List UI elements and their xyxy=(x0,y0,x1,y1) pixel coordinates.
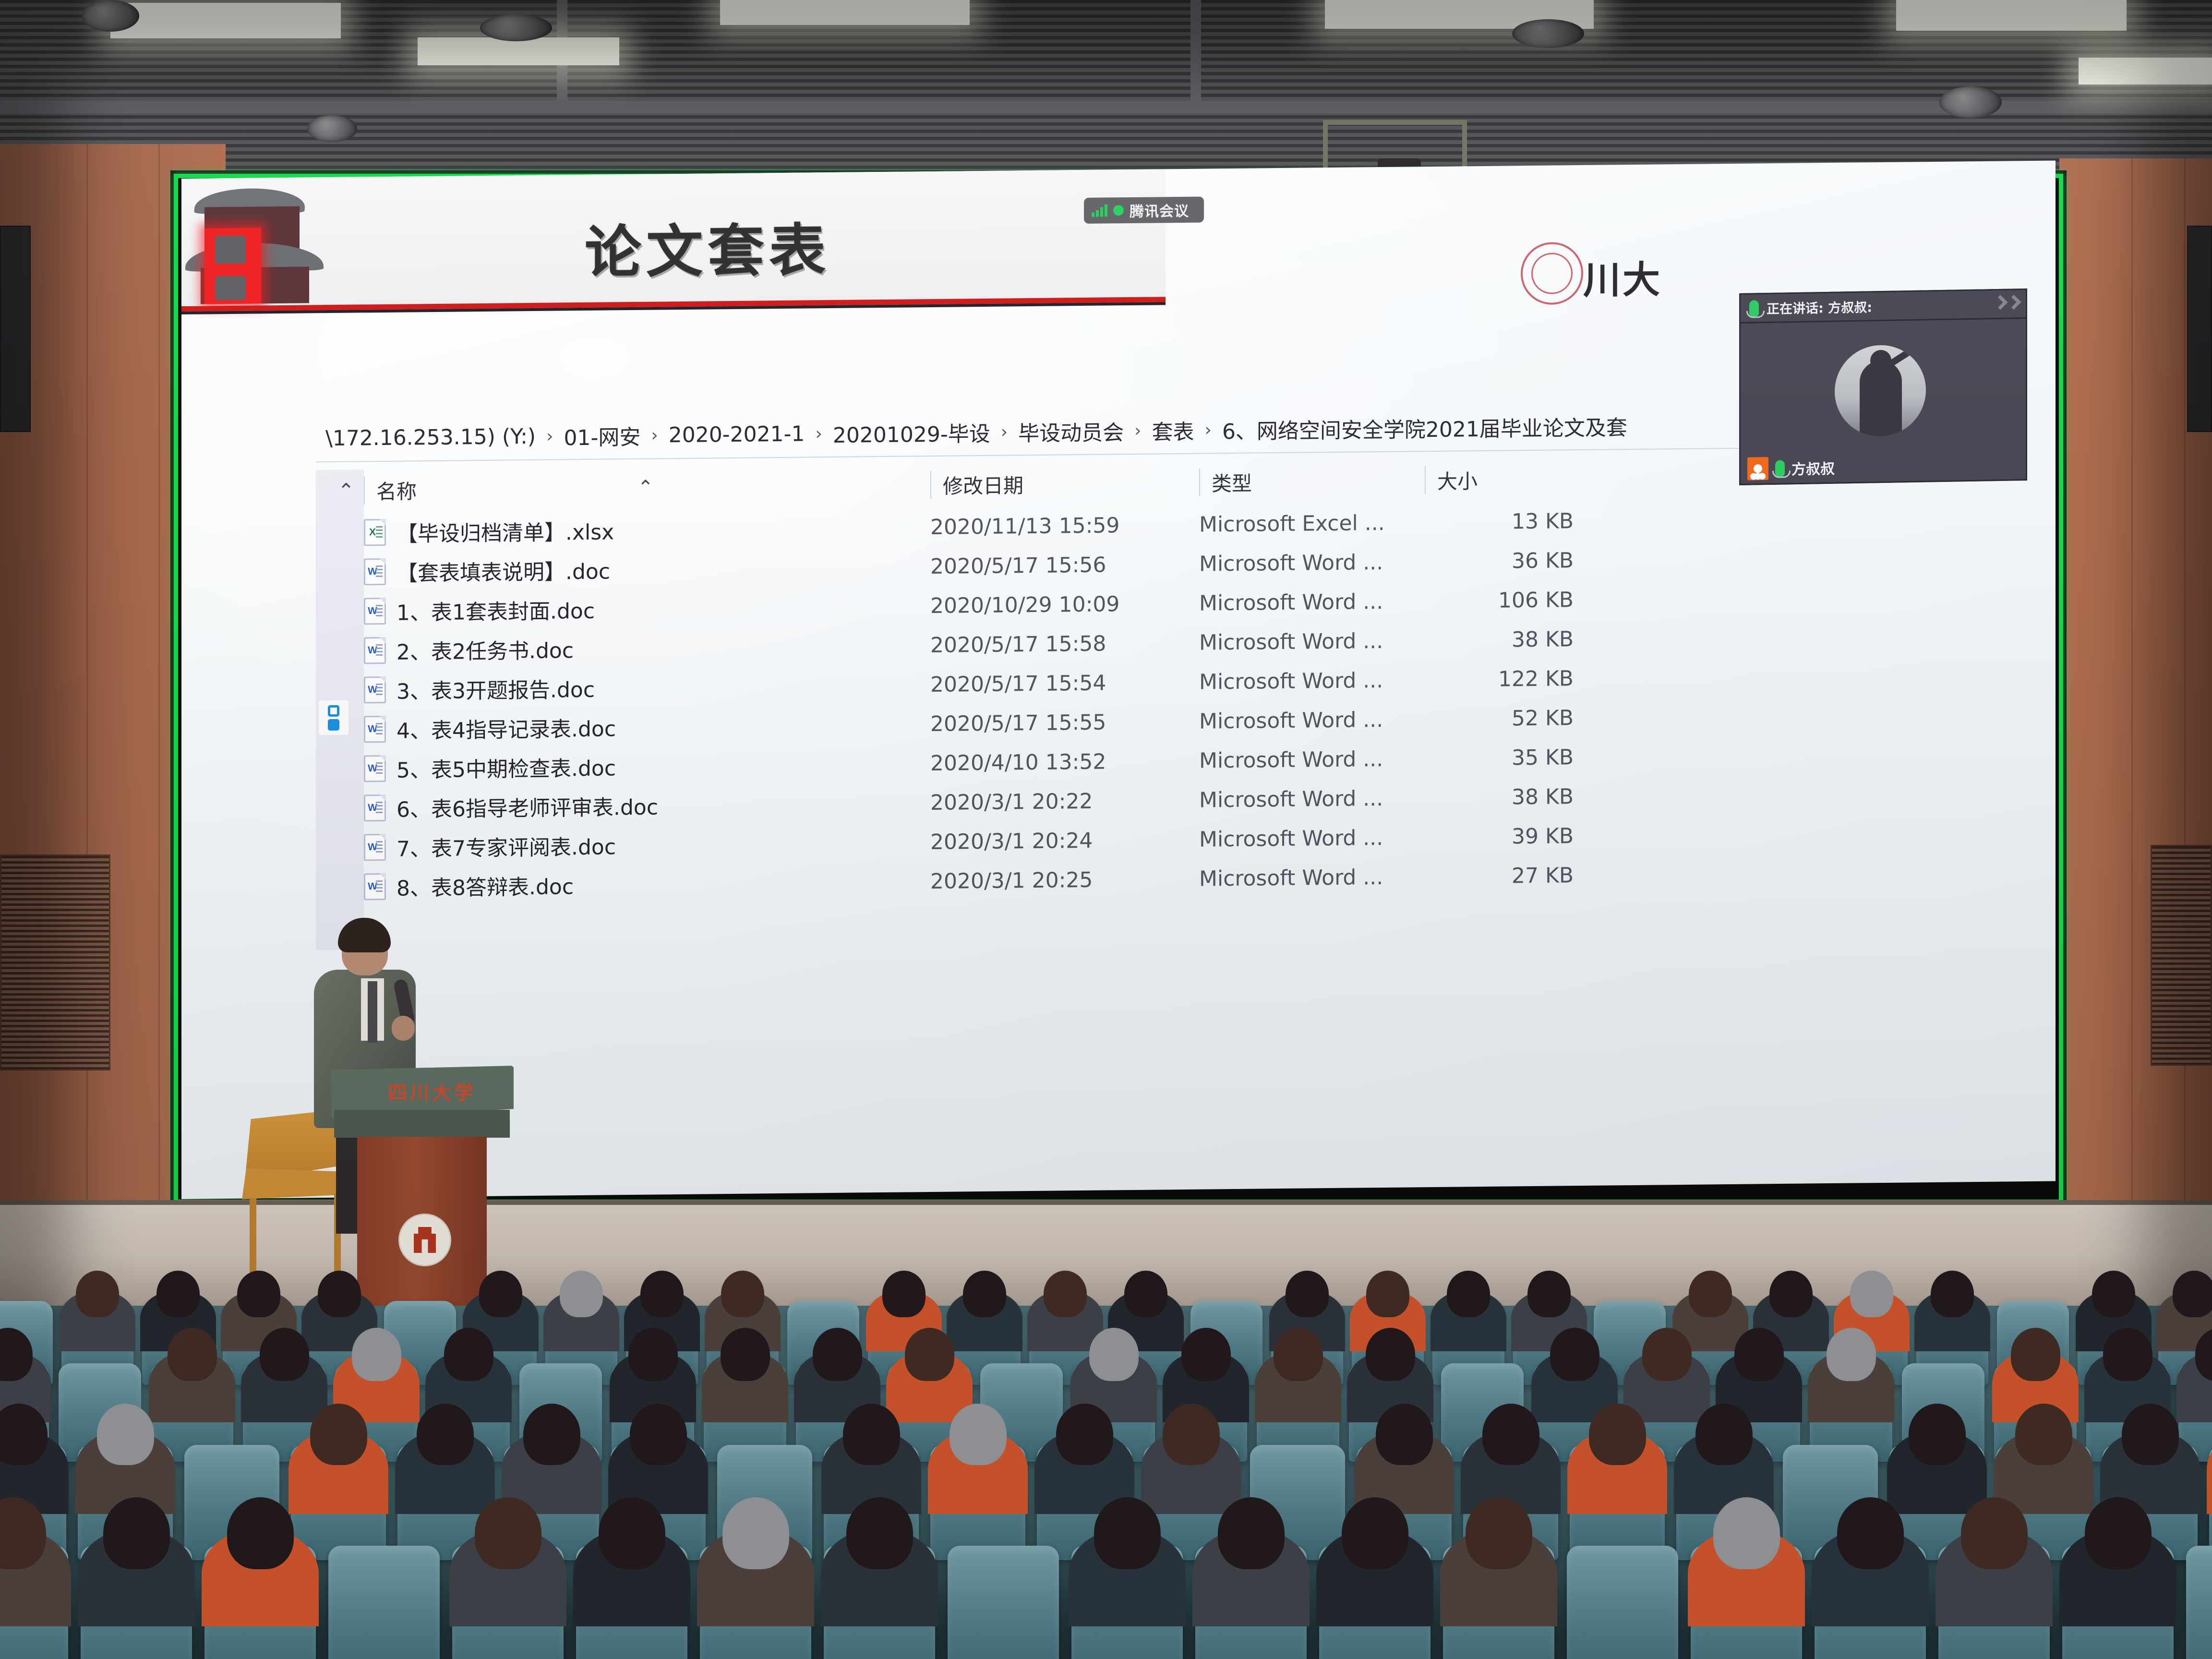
file-name-cell[interactable]: W3、表3开题报告.doc xyxy=(364,669,930,705)
person-avatar-icon xyxy=(1747,457,1768,481)
file-name-label: 1、表1套表封面.doc xyxy=(397,594,595,626)
audience-seat xyxy=(1567,1546,1678,1659)
file-explorer-window: \172.16.253.15) (Y:) › 01-网安 › 2020-2021… xyxy=(297,402,1895,955)
audience-head xyxy=(846,1497,913,1569)
file-name-cell[interactable]: W1、表1套表封面.doc xyxy=(364,590,930,626)
audience-seat xyxy=(948,1546,1059,1659)
audience-head xyxy=(475,1497,541,1569)
audience-head xyxy=(813,1328,862,1381)
audience-head xyxy=(168,1328,217,1381)
word-file-icon: W xyxy=(364,637,386,664)
slide-title: 论文套表 xyxy=(585,204,830,289)
file-name-label: 7、表7专家评阅表.doc xyxy=(397,829,616,862)
file-name-label: 3、表3开题报告.doc xyxy=(397,673,595,705)
file-date-cell: 2020/5/17 15:56 xyxy=(930,552,1199,578)
quick-access-icon[interactable] xyxy=(319,700,349,735)
audience-head xyxy=(2085,1497,2152,1569)
audience-head xyxy=(2173,1271,2212,1317)
audience-head xyxy=(227,1497,294,1569)
audience-head xyxy=(1589,1404,1646,1466)
audience-head xyxy=(1274,1328,1323,1381)
audience-head xyxy=(2015,1404,2072,1466)
audience-seat xyxy=(2186,1546,2212,1659)
audience-head xyxy=(1827,1328,1876,1381)
audience-head xyxy=(1094,1497,1161,1569)
breadcrumb-item-1[interactable]: 01-网安 xyxy=(564,420,640,452)
chevron-up-icon: ⌃ xyxy=(337,479,354,502)
column-header-type-label: 类型 xyxy=(1212,467,1252,497)
audience-seat xyxy=(328,1546,440,1659)
file-size-cell: 39 KB xyxy=(1425,824,1574,850)
column-header-name[interactable]: 名称 ⌃ xyxy=(364,470,930,505)
audience-head xyxy=(1931,1271,1974,1317)
column-header-type[interactable]: 类型 xyxy=(1199,465,1425,497)
word-file-icon: W xyxy=(364,598,386,625)
ceiling-speaker xyxy=(1512,19,1584,48)
audience-head xyxy=(1689,1271,1732,1317)
audience-head xyxy=(1550,1328,1599,1381)
audience-head xyxy=(1286,1271,1329,1317)
breadcrumb[interactable]: \172.16.253.15) (Y:) › 01-网安 › 2020-2021… xyxy=(325,402,1876,459)
lecture-hall-photo: 论文套表 腾讯会议 川大 \172.16.253.15) (Y:) › 01-网… xyxy=(0,0,2212,1659)
audience-head xyxy=(318,1271,361,1317)
file-name-label: 【毕设归档清单】.xlsx xyxy=(397,515,614,547)
breadcrumb-item-4[interactable]: 毕设动员会 xyxy=(1018,415,1124,447)
chevron-right-icon: › xyxy=(1001,422,1008,442)
ceiling-light xyxy=(418,37,619,65)
word-file-icon: W xyxy=(364,676,386,703)
audience-head xyxy=(2122,1404,2179,1466)
audience-head xyxy=(1466,1497,1532,1569)
file-type-cell: Microsoft Word ... xyxy=(1199,589,1425,616)
ceiling-speaker xyxy=(82,0,139,32)
file-list: X【毕设归档清单】.xlsx2020/11/13 15:59Microsoft … xyxy=(364,498,1886,906)
audience-head xyxy=(905,1328,954,1381)
audience-head xyxy=(721,1328,770,1381)
audience-head xyxy=(1056,1404,1113,1466)
ceiling-speaker xyxy=(480,14,552,41)
ceiling-speaker xyxy=(1939,86,2002,118)
excel-file-icon: X xyxy=(364,519,386,546)
chevron-right-icon: › xyxy=(1134,421,1141,440)
audience-head xyxy=(1089,1328,1139,1381)
file-size-cell: 35 KB xyxy=(1425,745,1574,771)
file-type-cell: Microsoft Word ... xyxy=(1199,550,1425,577)
ceiling-light xyxy=(720,0,970,25)
audience-head xyxy=(2011,1328,2060,1381)
file-date-cell: 2020/11/13 15:59 xyxy=(930,512,1199,539)
chevron-right-icon: › xyxy=(815,424,822,444)
audience-head xyxy=(1850,1271,1893,1317)
audience-head xyxy=(1909,1404,1966,1466)
file-name-label: 4、表4指导记录表.doc xyxy=(397,711,616,744)
file-type-cell: Microsoft Word ... xyxy=(1199,628,1425,655)
audience-head xyxy=(963,1271,1006,1317)
column-header-date-label: 修改日期 xyxy=(943,469,1023,500)
file-date-cell: 2020/5/17 15:54 xyxy=(930,670,1199,697)
audience-head xyxy=(1124,1271,1167,1317)
file-date-cell: 2020/10/29 10:09 xyxy=(930,591,1199,618)
audience-head xyxy=(722,1497,789,1569)
speaking-label: 正在讲话: 方叔叔: xyxy=(1767,297,1872,317)
participant-strip: 方叔叔 xyxy=(1741,449,2026,484)
audience-head xyxy=(1642,1328,1692,1381)
audience-head xyxy=(417,1404,474,1466)
participant-name: 方叔叔 xyxy=(1791,457,1835,479)
speaking-banner: 正在讲话: 方叔叔: xyxy=(1741,290,2026,324)
audience-head xyxy=(628,1328,678,1381)
chevron-right-icon: › xyxy=(1205,420,1212,440)
meeting-app-label: 腾讯会议 xyxy=(1130,199,1189,221)
audience-head xyxy=(882,1271,926,1317)
file-size-cell: 122 KB xyxy=(1425,666,1574,692)
chevron-right-icon[interactable] xyxy=(1995,297,2019,308)
tencent-meeting-badge: 腾讯会议 xyxy=(1084,197,1204,224)
file-size-cell: 38 KB xyxy=(1425,627,1574,653)
file-name-label: 2、表2任务书.doc xyxy=(397,633,574,666)
word-file-icon: W xyxy=(364,834,386,861)
pagoda-illustration xyxy=(183,181,342,302)
word-file-icon: W xyxy=(364,755,386,782)
audience-area xyxy=(0,1306,2212,1659)
chevron-right-icon: › xyxy=(546,426,553,446)
audience-head xyxy=(1734,1328,1784,1381)
file-name-cell[interactable]: W8、表8答辩表.doc xyxy=(364,866,930,902)
file-type-cell: Microsoft Excel ... xyxy=(1199,510,1425,537)
file-name-label: 【套表填表说明】.doc xyxy=(397,554,610,587)
ceiling-speaker xyxy=(307,115,357,142)
audience-head xyxy=(479,1271,522,1317)
status-dot-icon xyxy=(1113,205,1124,216)
audience-head xyxy=(1218,1497,1285,1569)
wall-vent-grille-right xyxy=(2151,845,2212,1066)
word-file-icon: W xyxy=(364,794,386,821)
wall-vent-grille-left xyxy=(0,854,110,1070)
audience-head xyxy=(352,1328,401,1381)
file-size-cell: 36 KB xyxy=(1425,548,1574,574)
audience-head xyxy=(721,1271,764,1317)
column-header-size-label: 大小 xyxy=(1437,465,1478,495)
ceiling-light xyxy=(1896,0,2127,31)
audience-head xyxy=(156,1271,200,1317)
file-name-cell[interactable]: W【套表填表说明】.doc xyxy=(364,551,930,587)
column-header-date[interactable]: 修改日期 xyxy=(930,468,1199,500)
file-type-cell: Microsoft Word ... xyxy=(1199,707,1425,734)
file-date-cell: 2020/4/10 13:52 xyxy=(930,748,1199,775)
audience-head xyxy=(950,1404,1007,1466)
audience-head xyxy=(76,1271,119,1317)
audience-head xyxy=(103,1497,170,1569)
word-file-icon: W xyxy=(364,873,386,900)
navigation-pane xyxy=(316,469,364,950)
file-name-label: 8、表8答辩表.doc xyxy=(397,869,574,902)
audience-head xyxy=(1527,1271,1571,1317)
audience-head xyxy=(1163,1404,1220,1466)
sort-ascending-caret-icon: ⌃ xyxy=(637,477,654,499)
file-type-cell: Microsoft Word ... xyxy=(1199,746,1425,773)
ceiling-light xyxy=(2079,58,2212,84)
file-name-cell[interactable]: W2、表2任务书.doc xyxy=(364,630,930,666)
audience-head xyxy=(310,1404,367,1466)
audience-head xyxy=(1376,1404,1433,1466)
breadcrumb-item-0[interactable]: \172.16.253.15) (Y:) xyxy=(325,424,536,450)
file-type-cell: Microsoft Word ... xyxy=(1199,865,1425,891)
word-file-icon: W xyxy=(364,558,386,585)
chevron-right-icon: › xyxy=(651,425,658,445)
audience-head xyxy=(1961,1497,2028,1569)
audience-head xyxy=(1837,1497,1904,1569)
file-date-cell: 2020/5/17 15:58 xyxy=(930,630,1199,657)
file-name-cell[interactable]: W5、表5中期检查表.doc xyxy=(364,748,930,784)
file-size-cell: 106 KB xyxy=(1425,588,1574,613)
audience-head xyxy=(444,1328,493,1381)
audience-head xyxy=(1366,1328,1415,1381)
wall-speaker-right xyxy=(2187,226,2212,432)
audience-head xyxy=(2103,1328,2152,1381)
audience-head xyxy=(560,1271,603,1317)
ceiling-beam xyxy=(1190,0,1201,101)
word-file-icon: W xyxy=(364,716,386,743)
ceiling xyxy=(0,0,2212,173)
file-name-label: 6、表6指导老师评审表.doc xyxy=(397,790,658,823)
audience-head xyxy=(1769,1271,1813,1317)
meeting-video-panel[interactable]: 正在讲话: 方叔叔: 方叔叔 xyxy=(1739,289,2027,485)
breadcrumb-item-5[interactable]: 套表 xyxy=(1152,415,1194,446)
file-size-cell: 52 KB xyxy=(1425,706,1574,732)
wall-speaker-left xyxy=(0,226,31,432)
university-seal-icon xyxy=(1521,242,1583,305)
ceiling-light xyxy=(110,3,341,38)
file-name-cell[interactable]: W4、表4指导记录表.doc xyxy=(364,709,930,745)
participant-avatar xyxy=(1835,344,1926,437)
breadcrumb-item-2[interactable]: 2020-2021-1 xyxy=(669,421,805,447)
audience-head xyxy=(523,1404,580,1466)
breadcrumb-item-3[interactable]: 20201029-毕设 xyxy=(833,417,990,449)
file-size-cell: 38 KB xyxy=(1425,784,1574,810)
audience-head xyxy=(630,1404,687,1466)
audience-head xyxy=(1342,1497,1408,1569)
audience-head xyxy=(640,1271,684,1317)
audience-head xyxy=(237,1271,280,1317)
microphone-icon xyxy=(1775,460,1785,476)
file-size-cell: 27 KB xyxy=(1425,863,1574,889)
microphone-icon xyxy=(1749,300,1759,316)
led-screen-content: 论文套表 腾讯会议 川大 \172.16.253.15) (Y:) › 01-网… xyxy=(181,161,2056,1199)
audience-head xyxy=(260,1328,309,1381)
file-name-cell[interactable]: X【毕设归档清单】.xlsx xyxy=(364,512,930,548)
podium-label: 四川大学 xyxy=(388,1077,476,1105)
file-type-cell: Microsoft Word ... xyxy=(1199,668,1425,695)
audience-head xyxy=(1181,1328,1231,1381)
breadcrumb-item-6[interactable]: 6、网络空间安全学院2021届毕业论文及套 xyxy=(1222,410,1627,445)
podium-seal-icon xyxy=(398,1214,451,1266)
file-date-cell: 2020/3/1 20:22 xyxy=(930,788,1199,815)
file-name-cell[interactable]: W6、表6指导老师评审表.doc xyxy=(364,787,930,823)
audience-head xyxy=(1366,1271,1409,1317)
audience-head xyxy=(1044,1271,1087,1317)
audience-head xyxy=(843,1404,900,1466)
audience-head xyxy=(1713,1497,1780,1569)
file-name-label: 5、表5中期检查表.doc xyxy=(397,751,616,783)
audience-head xyxy=(2092,1271,2135,1317)
audience-head xyxy=(1447,1271,1490,1317)
file-type-cell: Microsoft Word ... xyxy=(1199,786,1425,813)
column-header-size[interactable]: 大小 xyxy=(1425,464,1593,495)
file-name-cell[interactable]: W7、表7专家评阅表.doc xyxy=(364,827,930,863)
column-header-name-label: 名称 xyxy=(376,475,417,505)
audience-head xyxy=(97,1404,154,1466)
file-size-cell: 13 KB xyxy=(1425,509,1574,535)
nav-collapse-button[interactable]: ⌃ xyxy=(316,475,364,505)
university-seal-text: 川大 xyxy=(1583,250,1662,304)
signal-bars-icon xyxy=(1092,204,1107,216)
audience-head xyxy=(599,1497,665,1569)
ceiling-beam xyxy=(0,101,2212,113)
audience-head xyxy=(1482,1404,1539,1466)
file-date-cell: 2020/5/17 15:55 xyxy=(930,709,1199,736)
audience-head xyxy=(1695,1404,1753,1466)
file-date-cell: 2020/3/1 20:24 xyxy=(930,827,1199,854)
file-type-cell: Microsoft Word ... xyxy=(1199,825,1425,852)
file-date-cell: 2020/3/1 20:25 xyxy=(930,866,1199,893)
